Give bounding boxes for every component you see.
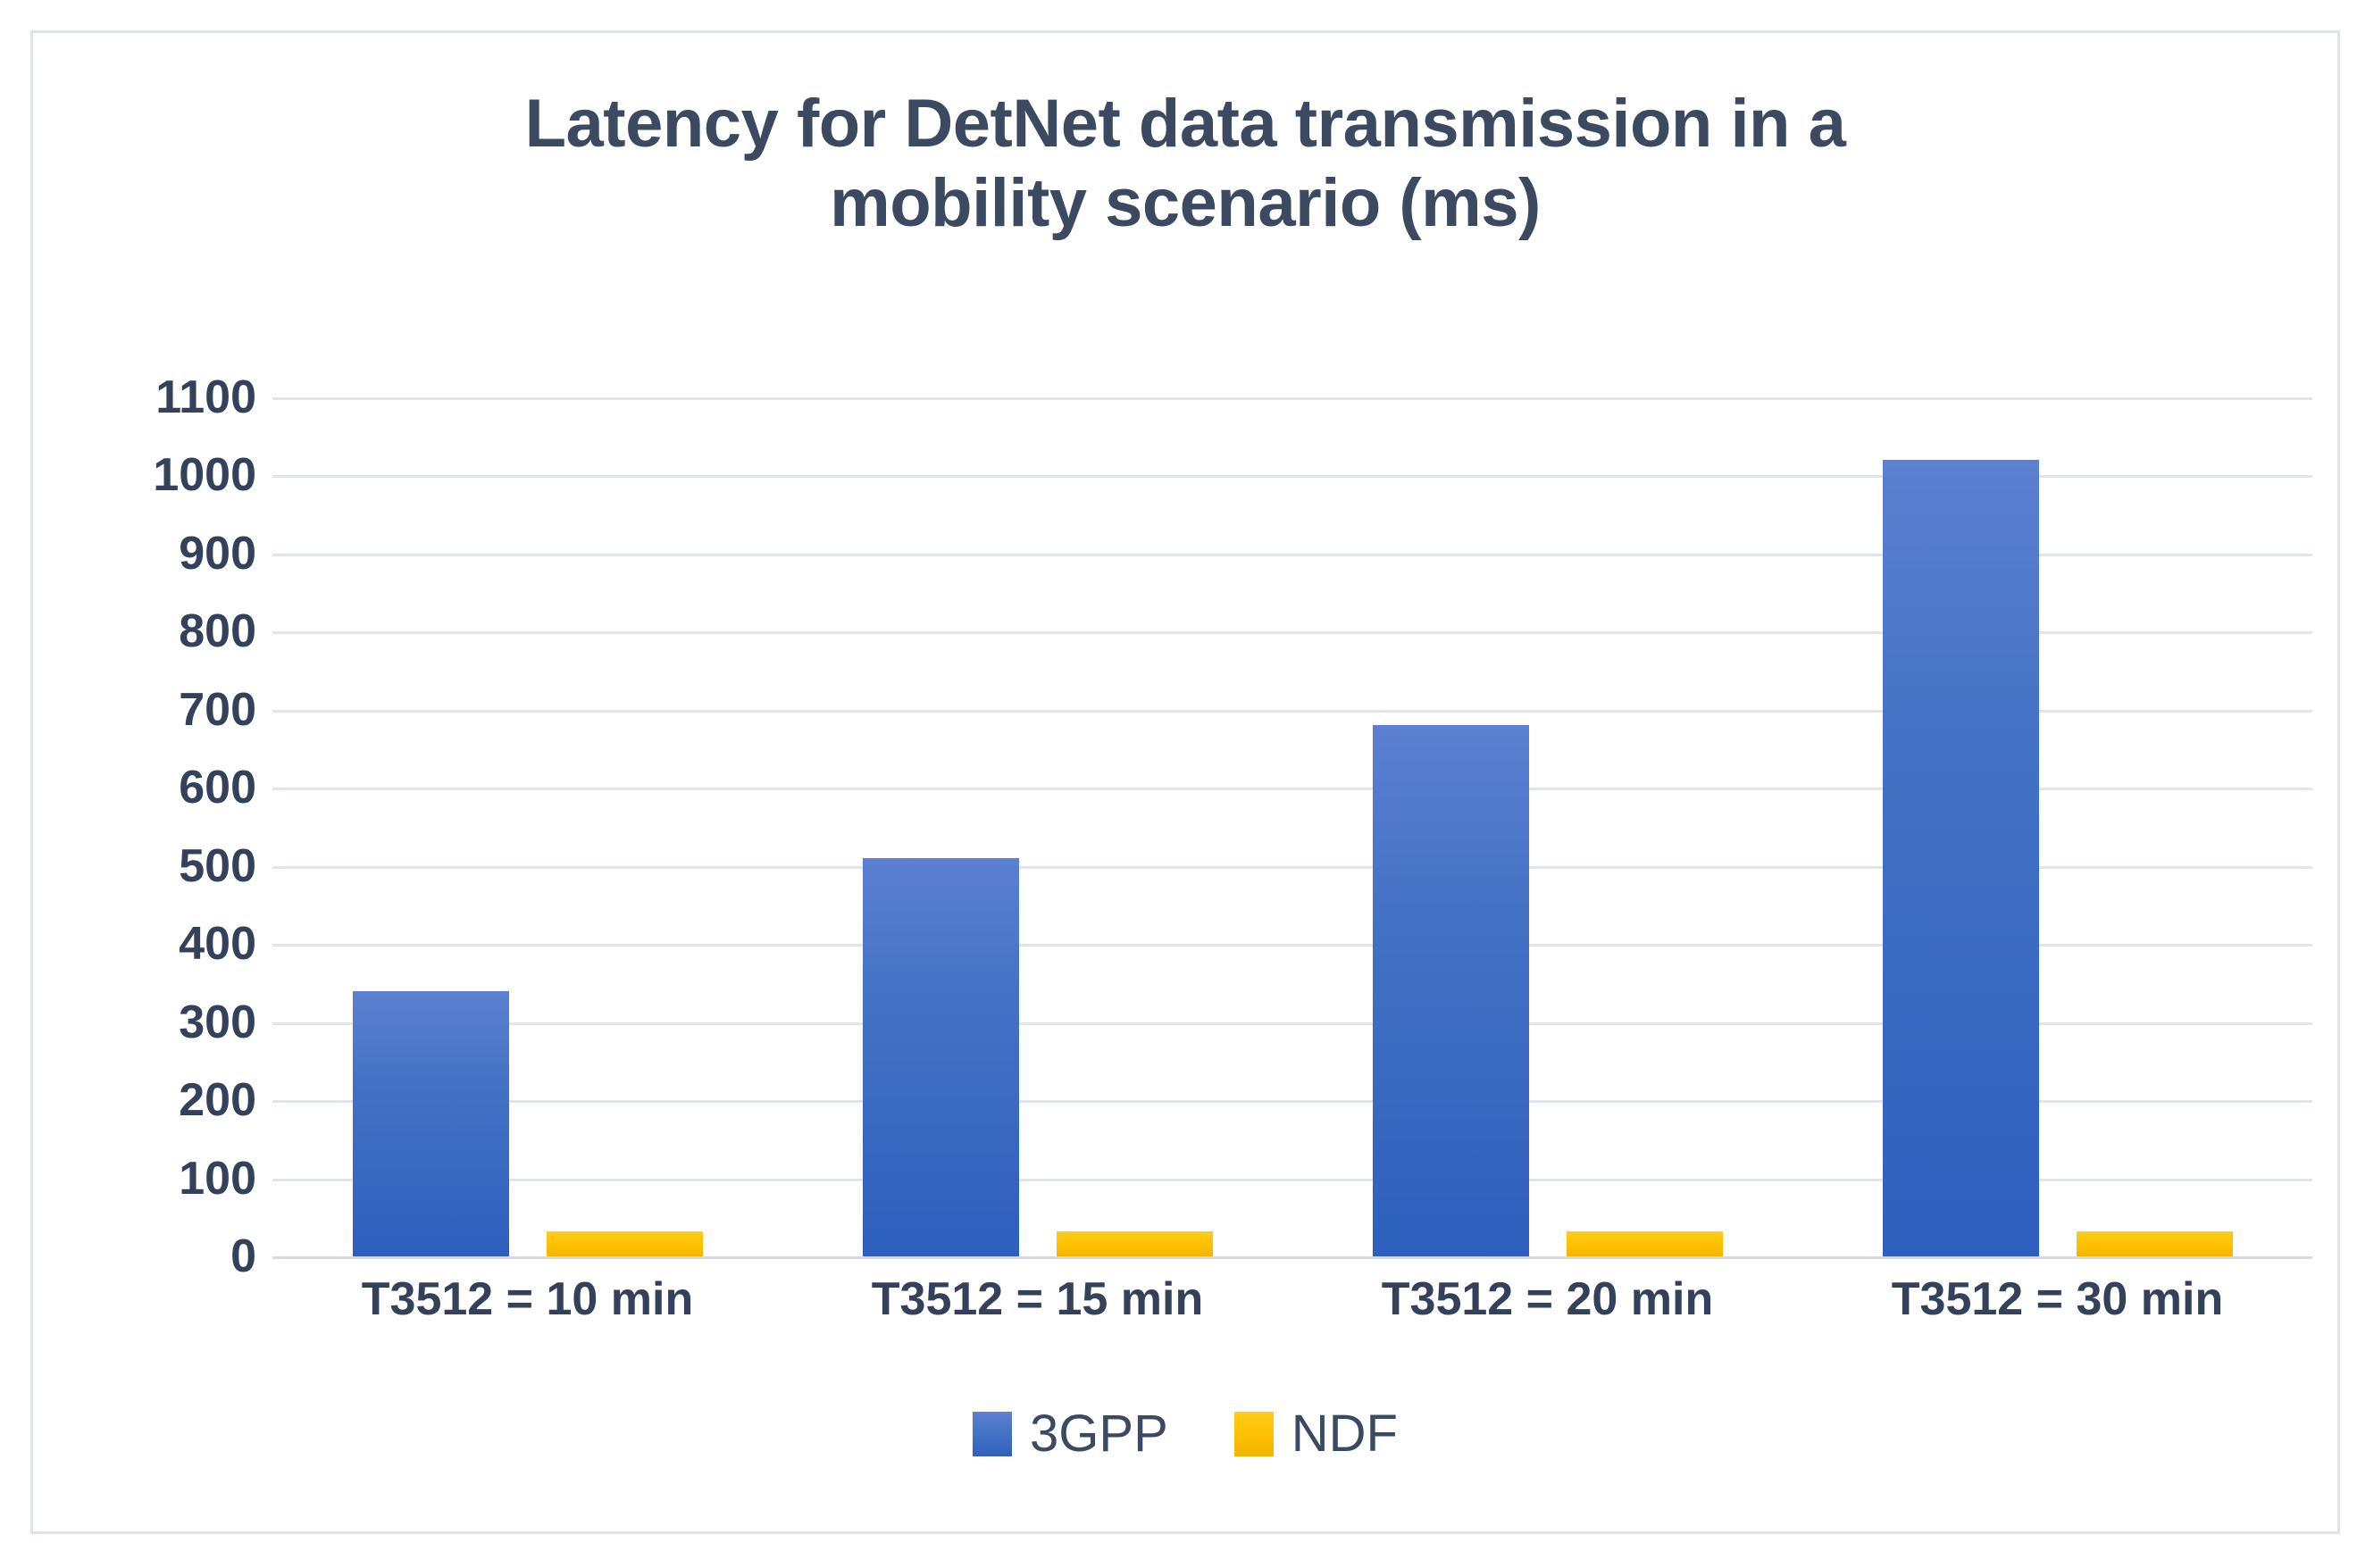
bar-ndf-0 <box>547 1231 703 1256</box>
x-axis-tick-label: T3512 = 15 min <box>782 1276 1292 1322</box>
bar-3gpp-1 <box>863 858 1019 1256</box>
chart-title-line-1: Latency for DetNet data transmission in … <box>247 85 2123 164</box>
y-axis: 110010009008007006005004003002001000 <box>87 397 256 1256</box>
y-axis-tick-label: 500 <box>179 843 256 889</box>
bar-ndf-2 <box>1567 1231 1723 1256</box>
gridline <box>272 1256 2312 1259</box>
chart-title: Latency for DetNet data transmission in … <box>33 85 2337 244</box>
x-axis: T3512 = 10 minT3512 = 15 minT3512 = 20 m… <box>272 1276 2312 1356</box>
legend-item-3gpp[interactable]: 3GPP <box>973 1408 1168 1460</box>
y-axis-tick-label: 200 <box>179 1077 256 1123</box>
legend-item-ndf[interactable]: NDF <box>1234 1408 1398 1460</box>
y-axis-tick-label: 900 <box>179 530 256 577</box>
legend-label: 3GPP <box>1030 1408 1168 1460</box>
legend-swatch-icon <box>1234 1412 1274 1456</box>
x-axis-tick-label: T3512 = 10 min <box>272 1276 782 1322</box>
chart-title-line-2: mobility scenario (ms) <box>247 164 2123 244</box>
chart-figure: Latency for DetNet data transmission in … <box>0 0 2374 1568</box>
y-axis-tick-label: 800 <box>179 608 256 655</box>
y-axis-tick-label: 600 <box>179 764 256 811</box>
legend-label: NDF <box>1291 1408 1398 1460</box>
bar-3gpp-0 <box>353 991 509 1256</box>
bar-3gpp-3 <box>1883 460 2039 1256</box>
chart-frame: Latency for DetNet data transmission in … <box>30 30 2340 1534</box>
y-axis-tick-label: 0 <box>230 1233 256 1280</box>
x-axis-tick-label: T3512 = 30 min <box>1802 1276 2312 1322</box>
bar-3gpp-2 <box>1373 725 1529 1256</box>
y-axis-tick-label: 100 <box>179 1155 256 1202</box>
x-axis-tick-label: T3512 = 20 min <box>1292 1276 1802 1322</box>
bars-layer <box>272 397 2312 1256</box>
y-axis-tick-label: 1100 <box>155 374 256 421</box>
bar-ndf-3 <box>2077 1231 2233 1256</box>
y-axis-tick-label: 1000 <box>153 452 256 498</box>
chart-legend: 3GPPNDF <box>33 1408 2337 1460</box>
y-axis-tick-label: 300 <box>179 999 256 1046</box>
bar-ndf-1 <box>1057 1231 1213 1256</box>
legend-swatch-icon <box>973 1412 1012 1456</box>
y-axis-tick-label: 700 <box>179 687 256 733</box>
y-axis-tick-label: 400 <box>179 921 256 967</box>
